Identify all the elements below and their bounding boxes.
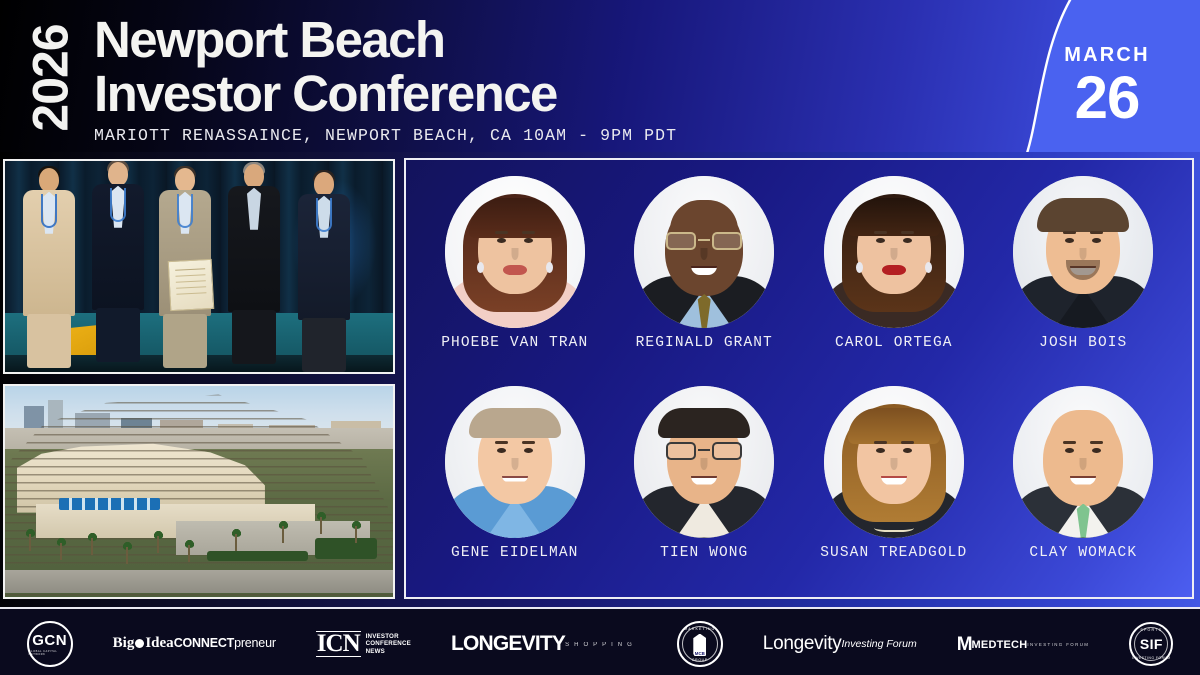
speaker-card[interactable]: GENE EIDELMAN (420, 382, 610, 592)
lif-line1: Longevity (763, 633, 842, 655)
avatar (445, 386, 585, 538)
gcn-subtext: GLOBAL CAPITAL NETWORK (29, 650, 71, 656)
icn-mark: ICN (316, 631, 361, 657)
speaker-name: SUSAN TREADGOLD (820, 545, 967, 561)
speaker-name: CAROL ORTEGA (835, 335, 953, 351)
seal-arc-bottom: GROUP (692, 658, 708, 662)
lightbulb-icon (135, 639, 144, 648)
sif-arc-top: SPORTS (1140, 628, 1162, 632)
bigidea-line1-a: Big (113, 635, 135, 651)
sponsor-logo-medtech-investing-forum[interactable]: M MEDTECH INVESTING FORUM (957, 636, 1090, 653)
bigidea-line1-b: Idea (145, 635, 173, 651)
avatar (634, 386, 774, 538)
speakers-grid: PHOEBE VAN TRAN (406, 160, 1192, 597)
poster-body: PHOEBE VAN TRAN (0, 152, 1200, 607)
sponsor-logo-big-idea-connectpreneur[interactable]: BigIdea CONNECTpreneur (113, 636, 276, 652)
longevity-shopping-line2: SHOPPING (565, 642, 637, 648)
speaker-name: TIEN WONG (660, 545, 748, 561)
hotel-aerial-image (5, 386, 393, 597)
seal-center: MCB (694, 651, 706, 656)
avatar (824, 386, 964, 538)
connectpreneur-a: CONNECT (174, 636, 234, 650)
speaker-card[interactable]: TIEN WONG (610, 382, 800, 592)
sponsor-logo-longevity-shopping[interactable]: LONGEVITY SHOPPING (451, 632, 637, 656)
sponsor-footer: GCN GLOBAL CAPITAL NETWORK BigIdea CONNE… (0, 607, 1200, 675)
page-title-line-2: Investor Conference (94, 68, 677, 119)
avatar (445, 176, 585, 328)
sif-arc-bottom: INVESTING FORUM (1132, 656, 1171, 660)
icn-line3: NEWS (366, 648, 411, 656)
gcn-mark: GCN (32, 633, 67, 648)
avatar (1013, 386, 1153, 538)
hotel-aerial-photo (3, 384, 395, 599)
conference-poster: 2026 Newport Beach Investor Conference M… (0, 0, 1200, 675)
year-label: 2026 (18, 16, 84, 140)
speaker-card[interactable]: CLAY WOMACK (989, 382, 1179, 592)
stage-award-image (5, 161, 393, 372)
avatar (824, 176, 964, 328)
icn-line1: INVESTOR (366, 633, 411, 641)
speaker-card[interactable]: JOSH BOIS (989, 172, 1179, 382)
speaker-card[interactable]: SUSAN TREADGOLD (799, 382, 989, 592)
title-block: Newport Beach Investor Conference MARIOT… (94, 14, 677, 145)
connectpreneur-b: preneur (234, 636, 276, 650)
page-title-line-1: Newport Beach (94, 14, 677, 65)
speaker-name: REGINALD GRANT (636, 335, 773, 351)
speakers-panel: PHOEBE VAN TRAN (404, 158, 1194, 599)
venue-subtitle: MARIOTT RENASSAINCE, NEWPORT BEACH, CA 1… (94, 126, 677, 145)
avatar (1013, 176, 1153, 328)
icn-line2: CONFERENCE (366, 640, 411, 648)
speaker-name: CLAY WOMACK (1029, 545, 1137, 561)
seal-arc-top: MARKETING (684, 627, 715, 631)
sponsor-logo-longevity-investing-forum[interactable]: Longevity Investing Forum (763, 633, 917, 655)
speaker-name: PHOEBE VAN TRAN (441, 335, 588, 351)
speaker-name: JOSH BOIS (1039, 335, 1127, 351)
sponsor-logo-sports-investing-forum[interactable]: SPORTS SIF INVESTING FORUM (1129, 622, 1173, 666)
speaker-card[interactable]: CAROL ORTEGA (799, 172, 989, 382)
medtech-line2: INVESTING FORUM (1027, 642, 1089, 647)
date-text: MARCH 26 (1042, 44, 1172, 127)
date-badge: MARCH 26 (980, 0, 1200, 152)
lif-line2: Investing Forum (841, 638, 916, 650)
speaker-card[interactable]: PHOEBE VAN TRAN (420, 172, 610, 382)
medtech-line1: MEDTECH (972, 639, 1028, 651)
speaker-name: GENE EIDELMAN (451, 545, 578, 561)
avatar (634, 176, 774, 328)
stage-award-photo (3, 159, 395, 374)
sponsor-logo-icn[interactable]: ICN INVESTOR CONFERENCE NEWS (316, 631, 411, 657)
sponsor-logo-mcb-seal[interactable]: MARKETING MCB GROUP (677, 621, 723, 667)
longevity-shopping-line1: LONGEVITY (451, 632, 565, 656)
year-text: 2026 (22, 24, 80, 131)
medtech-mark: M (957, 636, 972, 653)
speaker-card[interactable]: REGINALD GRANT (610, 172, 800, 382)
date-day: 26 (1042, 69, 1172, 127)
poster-header: 2026 Newport Beach Investor Conference M… (0, 0, 1200, 152)
sponsor-logo-gcn[interactable]: GCN GLOBAL CAPITAL NETWORK (27, 621, 73, 667)
sif-center: SIF (1140, 636, 1163, 652)
